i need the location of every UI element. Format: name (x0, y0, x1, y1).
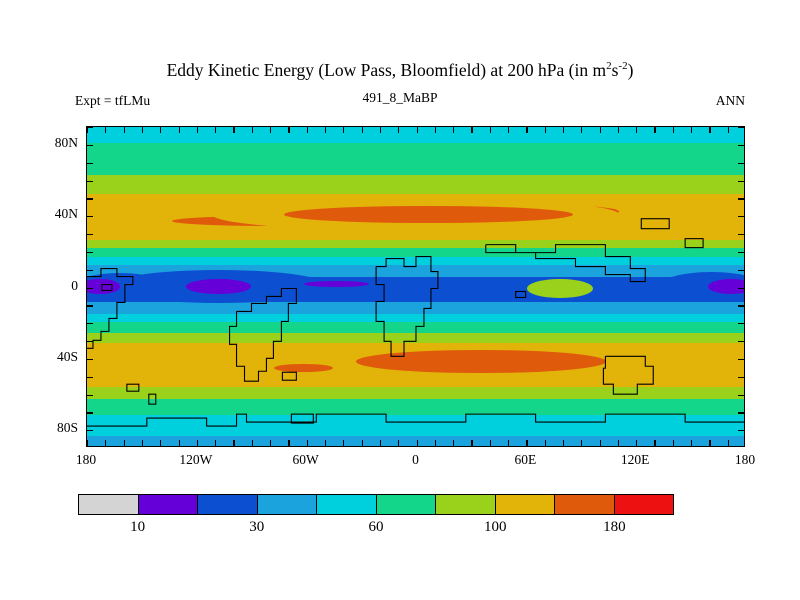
colorbar (78, 494, 674, 515)
axis-tick-mark (453, 127, 454, 133)
axis-tick-mark (87, 377, 93, 378)
axis-tick-mark (738, 288, 744, 289)
axis-tick-mark (160, 127, 161, 133)
axis-tick-mark (738, 430, 744, 431)
colorbar-swatch-1 (138, 495, 198, 514)
axis-tick-mark (673, 440, 674, 446)
axis-tick-mark (197, 127, 198, 133)
axis-tick-mark (270, 440, 271, 446)
axis-tick-mark (738, 198, 744, 199)
axis-tick-mark (380, 127, 381, 133)
axis-tick-mark (87, 359, 93, 360)
axis-tick-mark (307, 440, 308, 446)
axis-tick-mark (691, 440, 692, 446)
axis-tick-mark (179, 440, 180, 446)
axis-tick-mark (709, 127, 710, 133)
axis-tick-mark (87, 270, 93, 271)
axis-tick-mark (471, 127, 472, 133)
asia-coastline (486, 245, 646, 282)
colorbar-tick-30: 30 (227, 519, 287, 536)
colorbar-tick-100: 100 (465, 519, 525, 536)
australia-coastline (603, 356, 653, 394)
colorbar-tick-180: 180 (584, 519, 644, 536)
axis-tick-mark (738, 216, 744, 217)
axis-tick-mark (252, 440, 253, 446)
axis-tick-mark (738, 270, 744, 271)
island-outline (149, 394, 156, 404)
axis-tick-mark (87, 323, 93, 324)
axis-tick-mark (325, 440, 326, 446)
axis-tick-mark (87, 412, 93, 413)
axis-tick-mark (738, 395, 744, 396)
axis-tick-mark (738, 145, 744, 146)
colorbar-swatch-6 (435, 495, 495, 514)
axis-tick-mark (636, 127, 637, 133)
island-outline (516, 291, 526, 297)
colorbar-swatch-2 (197, 495, 257, 514)
axis-tick-mark (87, 145, 93, 146)
colorbar-swatch-4 (316, 495, 376, 514)
axis-tick-mark (471, 440, 472, 446)
axis-tick-mark (343, 127, 344, 133)
axis-tick-mark (270, 127, 271, 133)
x-axis-tick-120W: 120W (161, 452, 231, 468)
axis-tick-mark (87, 341, 93, 342)
axis-tick-mark (417, 440, 418, 446)
axis-tick-mark (307, 127, 308, 133)
colorbar-tick-10: 10 (108, 519, 168, 536)
island-outline (282, 372, 296, 380)
axis-tick-mark (87, 234, 93, 235)
title-end-text: ) (628, 60, 634, 80)
axis-tick-mark (417, 127, 418, 133)
axis-tick-mark (87, 252, 93, 253)
x-axis-tick-0: 0 (381, 452, 451, 468)
axis-tick-mark (600, 440, 601, 446)
axis-tick-mark (398, 127, 399, 133)
axis-tick-mark (215, 440, 216, 446)
axis-tick-mark (738, 163, 744, 164)
north-america-coastline (87, 269, 133, 349)
axis-tick-mark (252, 127, 253, 133)
axis-tick-mark (380, 440, 381, 446)
x-axis-tick-60W: 60W (271, 452, 341, 468)
axis-tick-mark (581, 440, 582, 446)
axis-tick-mark (233, 127, 234, 133)
axis-tick-mark (435, 440, 436, 446)
axis-tick-mark (600, 127, 601, 133)
axis-tick-mark (526, 440, 527, 446)
latitude-band (87, 446, 744, 447)
x-axis-tick-60E: 60E (490, 452, 560, 468)
axis-tick-mark (691, 127, 692, 133)
x-axis-tick-180: 180 (51, 452, 121, 468)
axis-tick-mark (105, 440, 106, 446)
season-label: ANN (716, 93, 745, 109)
axis-tick-mark (728, 127, 729, 133)
axis-tick-mark (508, 127, 509, 133)
axis-tick-mark (87, 181, 93, 182)
axis-tick-mark (654, 440, 655, 446)
axis-tick-mark (490, 127, 491, 133)
axis-tick-mark (288, 440, 289, 446)
map-plot-area (86, 126, 745, 447)
colorbar-swatch-8 (554, 495, 614, 514)
axis-tick-mark (435, 127, 436, 133)
axis-tick-mark (87, 305, 93, 306)
axis-tick-mark (738, 323, 744, 324)
axis-tick-mark (738, 305, 744, 306)
x-axis-tick-120E: 120E (600, 452, 670, 468)
axis-tick-mark (124, 127, 125, 133)
axis-tick-mark (738, 181, 744, 182)
axis-tick-mark (453, 440, 454, 446)
axis-tick-mark (738, 234, 744, 235)
axis-tick-mark (738, 252, 744, 253)
axis-tick-mark (738, 412, 744, 413)
axis-tick-mark (490, 440, 491, 446)
axis-tick-mark (87, 430, 93, 431)
island-outline (127, 384, 139, 391)
axis-tick-mark (362, 127, 363, 133)
axis-tick-mark (673, 127, 674, 133)
figure-root: Eddy Kinetic Energy (Low Pass, Bloomfiel… (0, 0, 800, 600)
axis-tick-mark (160, 440, 161, 446)
axis-tick-mark (105, 127, 106, 133)
y-axis-tick-40S: 40S (0, 349, 78, 365)
y-axis-tick-40N: 40N (0, 206, 78, 222)
axis-tick-mark (179, 127, 180, 133)
africa-eurasia-coastline (376, 257, 438, 357)
island-outline (641, 219, 669, 229)
colorbar-swatch-0 (79, 495, 138, 514)
axis-tick-mark (563, 440, 564, 446)
axis-tick-mark (728, 440, 729, 446)
axis-tick-mark (87, 127, 93, 128)
axis-tick-mark (654, 127, 655, 133)
axis-tick-mark (87, 198, 93, 199)
axis-tick-mark (738, 377, 744, 378)
colorbar-swatch-5 (376, 495, 436, 514)
axis-tick-mark (636, 440, 637, 446)
island-outline (102, 285, 112, 291)
y-axis-tick-80S: 80S (0, 420, 78, 436)
title-superscript-minus2: -2 (618, 60, 627, 72)
axis-tick-mark (343, 440, 344, 446)
axis-tick-mark (215, 127, 216, 133)
axis-tick-mark (738, 127, 744, 128)
axis-tick-mark (362, 440, 363, 446)
colorbar-swatch-3 (257, 495, 317, 514)
axis-tick-mark (545, 440, 546, 446)
axis-tick-mark (581, 127, 582, 133)
axis-tick-mark (124, 440, 125, 446)
axis-tick-mark (233, 440, 234, 446)
axis-tick-mark (618, 440, 619, 446)
south-america-coastline (230, 289, 297, 382)
axis-tick-mark (738, 341, 744, 342)
title-main-text: Eddy Kinetic Energy (Low Pass, Bloomfiel… (167, 60, 607, 80)
y-axis-tick-0: 0 (0, 278, 78, 294)
axis-tick-mark (87, 288, 93, 289)
axis-tick-mark (87, 216, 93, 217)
x-axis-tick-180: 180 (710, 452, 780, 468)
y-axis-tick-80N: 80N (0, 135, 78, 151)
axis-tick-mark (87, 395, 93, 396)
page-title: Eddy Kinetic Energy (Low Pass, Bloomfiel… (0, 60, 800, 81)
axis-tick-mark (325, 127, 326, 133)
axis-tick-mark (142, 440, 143, 446)
colorbar-swatch-9 (614, 495, 674, 514)
axis-tick-mark (142, 127, 143, 133)
axis-tick-mark (87, 440, 88, 446)
axis-tick-mark (618, 127, 619, 133)
axis-tick-mark (87, 163, 93, 164)
axis-tick-mark (288, 127, 289, 133)
axis-tick-mark (738, 359, 744, 360)
colorbar-tick-60: 60 (346, 519, 406, 536)
run-id-label: 491_8_MaBP (0, 90, 800, 106)
antarctica-coastline (87, 414, 744, 426)
colorbar-swatch-7 (495, 495, 555, 514)
axis-tick-mark (563, 127, 564, 133)
axis-tick-mark (709, 440, 710, 446)
coastline-overlay (87, 127, 744, 447)
axis-tick-mark (197, 440, 198, 446)
island-outline (685, 239, 703, 248)
axis-tick-mark (545, 127, 546, 133)
axis-tick-mark (526, 127, 527, 133)
axis-tick-mark (508, 440, 509, 446)
axis-tick-mark (398, 440, 399, 446)
